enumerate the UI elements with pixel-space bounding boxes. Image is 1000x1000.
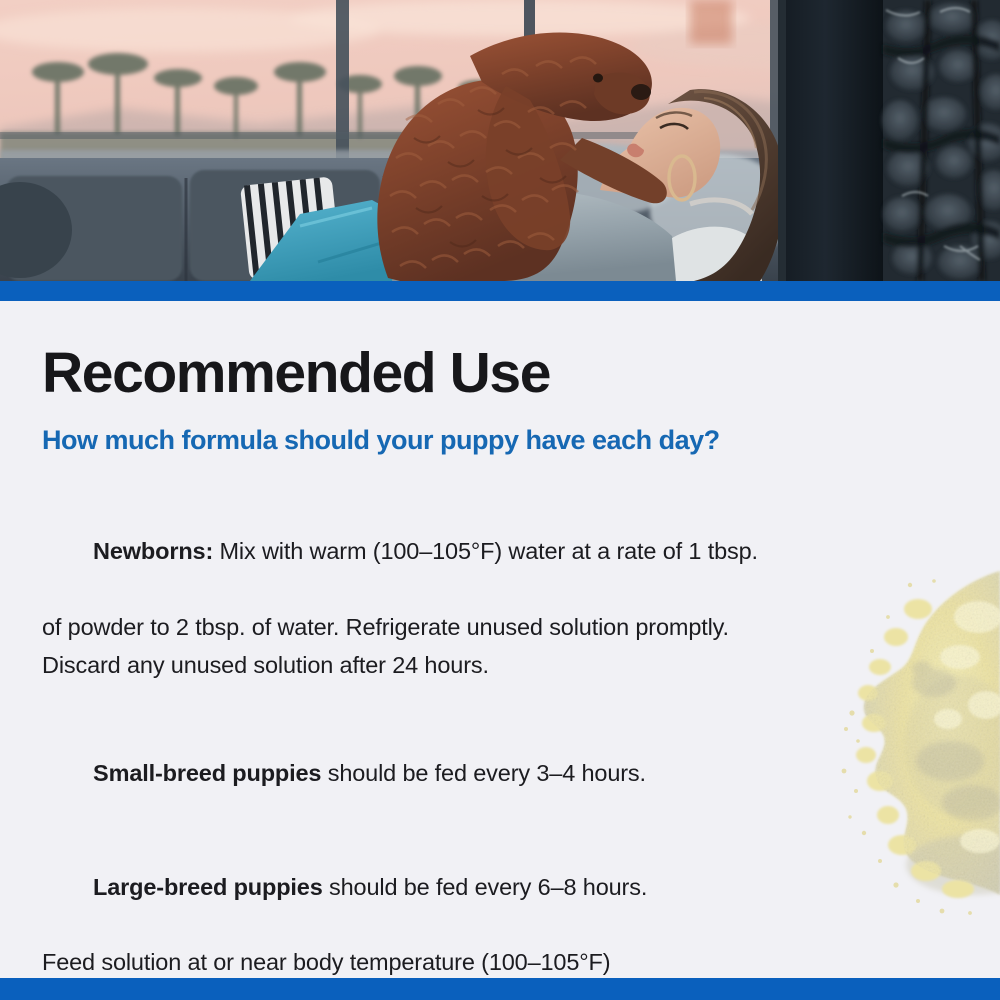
hero-photo [0, 0, 1000, 281]
accent-bar-bottom [0, 978, 1000, 1000]
small-breed-label: Small-breed puppies [93, 760, 321, 786]
breed-feeding-paragraph: Small-breed puppies should be fed every … [42, 718, 922, 1000]
large-breed-label: Large-breed puppies [93, 874, 323, 900]
newborns-line-1: Mix with warm (100–105°F) water at a rat… [213, 538, 758, 564]
newborns-paragraph: Newborns: Mix with warm (100–105°F) wate… [42, 496, 922, 685]
recommended-use-section: Recommended Use How much formula should … [0, 301, 1000, 978]
page-title: Recommended Use [42, 345, 958, 402]
newborns-label: Newborns: [93, 538, 213, 564]
newborns-line-3: Discard any unused solution after 24 hou… [42, 647, 922, 685]
feeding-line-1: Feed solution at or near body temperatur… [42, 944, 922, 982]
newborns-line-2: of powder to 2 tbsp. of water. Refrigera… [42, 609, 922, 647]
small-breed-text: should be fed every 3–4 hours. [321, 760, 646, 786]
section-subtitle: How much formula should your puppy have … [42, 426, 958, 456]
product-info-panel: Recommended Use How much formula should … [0, 0, 1000, 1000]
accent-bar-top [0, 281, 1000, 301]
large-breed-text: should be fed every 6–8 hours. [323, 874, 648, 900]
